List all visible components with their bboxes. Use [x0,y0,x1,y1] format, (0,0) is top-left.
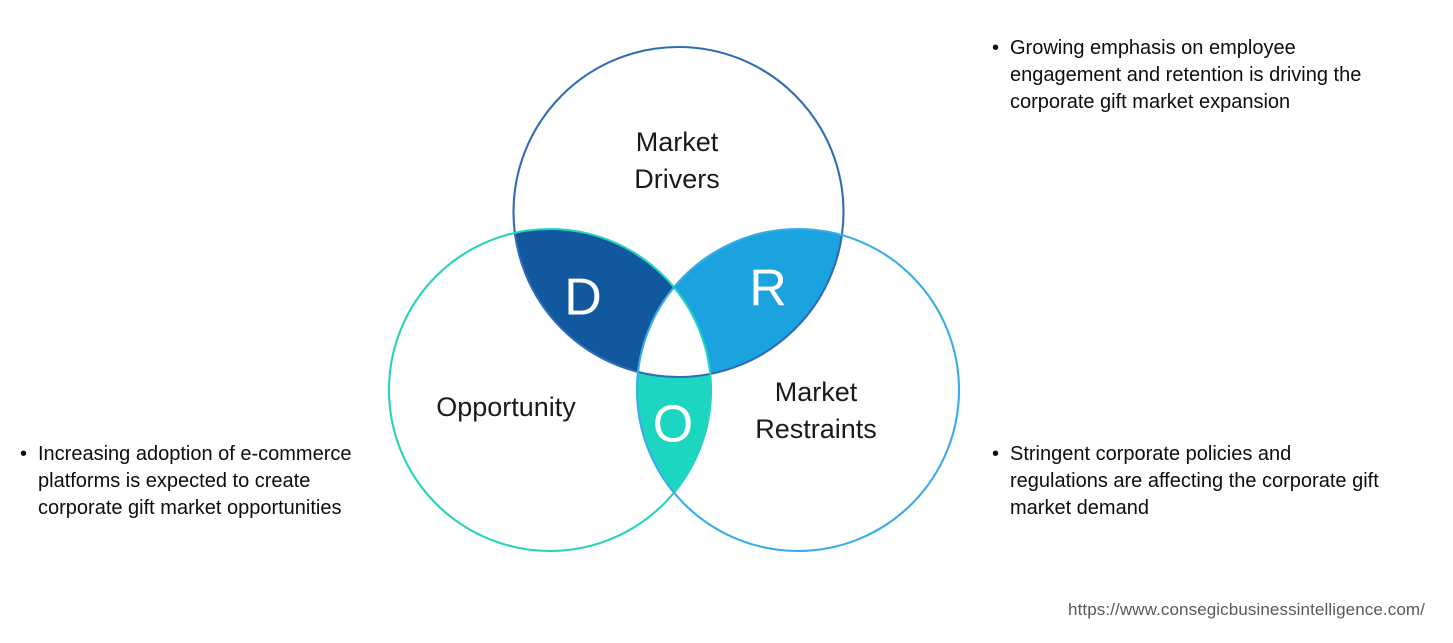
source-url[interactable]: https://www.consegicbusinessintelligence… [1068,600,1425,620]
callout-market-restraints: • Stringent corporate policies and regul… [992,441,1392,522]
venn-diagram: D R O Market Drivers Opportunity Market … [370,20,990,580]
bullet-icon: • [20,441,38,468]
callout-market-restraints-text: Stringent corporate policies and regulat… [1010,441,1392,522]
venn-lens-o[interactable] [370,20,990,580]
venn-letter-o: O [653,396,693,454]
bullet-icon: • [992,35,1010,62]
slide-canvas: D R O Market Drivers Opportunity Market … [0,0,1453,643]
venn-label-drivers-line1: Market [636,127,719,157]
venn-letter-d: D [564,269,602,327]
callout-market-drivers-text: Growing emphasis on employee engagement … [1010,35,1412,116]
callout-opportunity-text: Increasing adoption of e-commerce platfo… [38,441,400,522]
venn-label-restraints-line2: Restraints [755,414,877,444]
venn-letter-r: R [749,260,787,318]
venn-label-drivers-line2: Drivers [634,164,720,194]
venn-label-opportunity: Opportunity [436,392,576,422]
bullet-icon: • [992,441,1010,468]
venn-label-restraints-line1: Market [775,377,858,407]
callout-market-drivers: • Growing emphasis on employee engagemen… [992,35,1412,116]
venn-diagram-svg: D R O Market Drivers Opportunity Market … [370,20,990,580]
callout-opportunity: • Increasing adoption of e-commerce plat… [20,441,400,522]
